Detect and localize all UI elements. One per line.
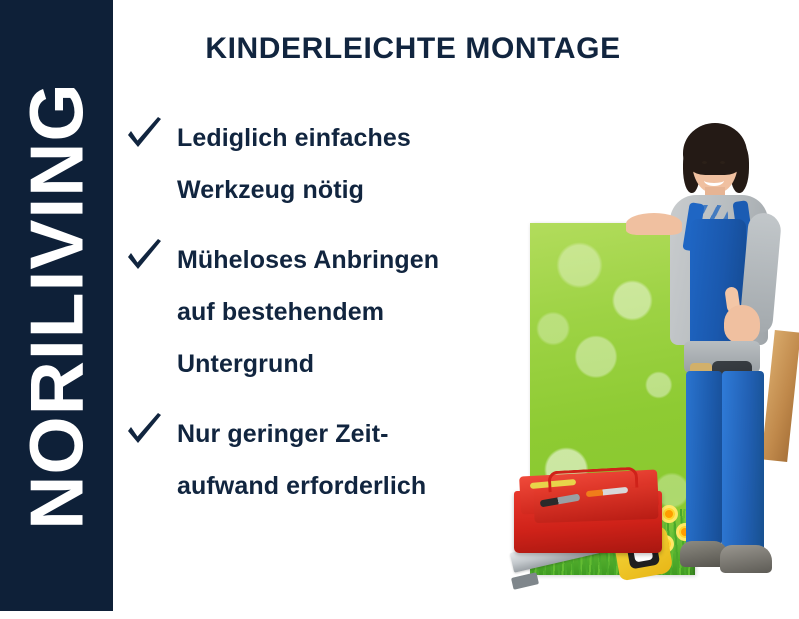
check-icon (125, 412, 165, 448)
eye (720, 161, 725, 164)
list-item-line: Werkzeug nötig (177, 164, 515, 216)
hand (626, 213, 682, 235)
check-icon (125, 238, 165, 274)
brand-name: NORILIVING (19, 82, 94, 530)
page-title: KINDERLEICHTE MONTAGE (133, 32, 693, 65)
red-toolbox (514, 467, 662, 553)
wooden-plank (761, 330, 799, 462)
worker-figure (650, 95, 795, 595)
product-photo (500, 95, 799, 619)
hand (724, 305, 760, 343)
list-item: Lediglich einfaches Werkzeug nötig (125, 112, 515, 216)
trouser-leg (686, 371, 722, 547)
list-item-line: Nur geringer Zeit- (177, 408, 515, 460)
smile (704, 175, 724, 186)
list-item: Müheloses Anbringen auf bestehendem Unte… (125, 234, 515, 390)
list-item-line: Untergrund (177, 338, 515, 390)
work-shoe (720, 545, 772, 573)
trouser-leg (722, 371, 764, 553)
eye (702, 161, 707, 164)
list-item: Nur geringer Zeit- aufwand erforderlich (125, 408, 515, 512)
benefits-list: Lediglich einfaches Werkzeug nötig Mühel… (125, 112, 515, 512)
list-item-line: Müheloses Anbringen (177, 234, 515, 286)
saw-blade-tip (511, 572, 539, 590)
list-item-line: aufwand erforderlich (177, 460, 515, 512)
list-item-line: Lediglich einfaches (177, 112, 515, 164)
brand-sidebar: NORILIVING (0, 0, 113, 611)
list-item-line: auf bestehendem (177, 286, 515, 338)
check-icon (125, 116, 165, 152)
hair (683, 123, 747, 175)
